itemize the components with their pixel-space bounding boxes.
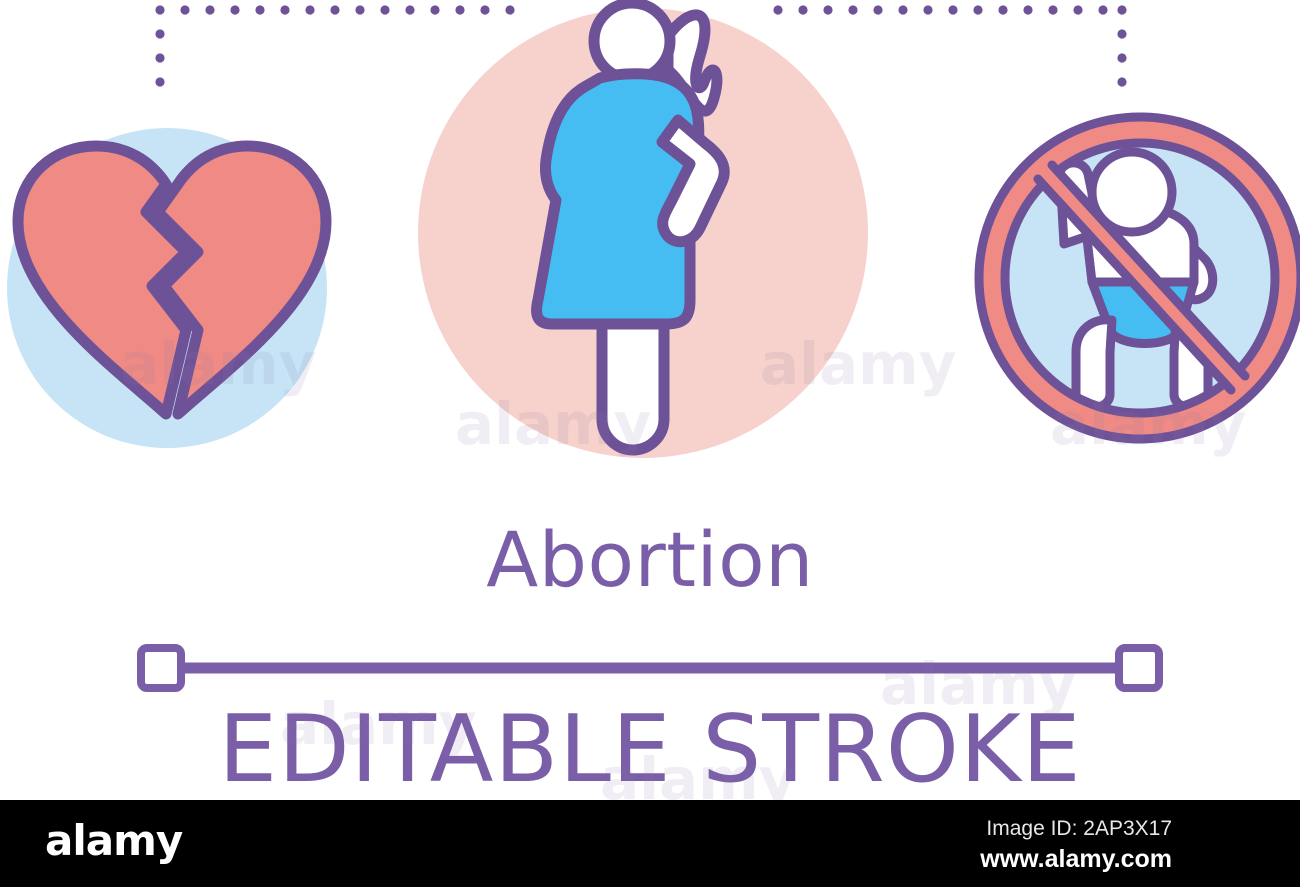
- concept-icon-artboard: [0, 0, 1300, 800]
- alamy-logo: alamy: [45, 818, 182, 864]
- alamy-footer-bar: alamy Image ID: 2AP3X17 www.alamy.com: [0, 800, 1300, 887]
- no-baby-icon: [979, 117, 1300, 439]
- image-id-label: Image ID: 2AP3X17: [986, 816, 1172, 842]
- pregnant-woman-icon: [418, 3, 868, 458]
- screenshot-root: Abortion EDITABLE STROKE alamyalamyalamy…: [0, 0, 1300, 887]
- alamy-url-label: www.alamy.com: [980, 844, 1172, 874]
- broken-heart-icon: [7, 128, 327, 448]
- editable-stroke-caption: EDITABLE STROKE: [0, 697, 1300, 801]
- stroke-width-widget[interactable]: [141, 648, 1159, 688]
- stroke-width-handle-right[interactable]: [1119, 648, 1159, 688]
- woman-head: [594, 3, 670, 79]
- baby-left-leg: [1076, 320, 1112, 408]
- stroke-width-handle-left[interactable]: [141, 648, 181, 688]
- concept-title: Abortion: [0, 512, 1300, 608]
